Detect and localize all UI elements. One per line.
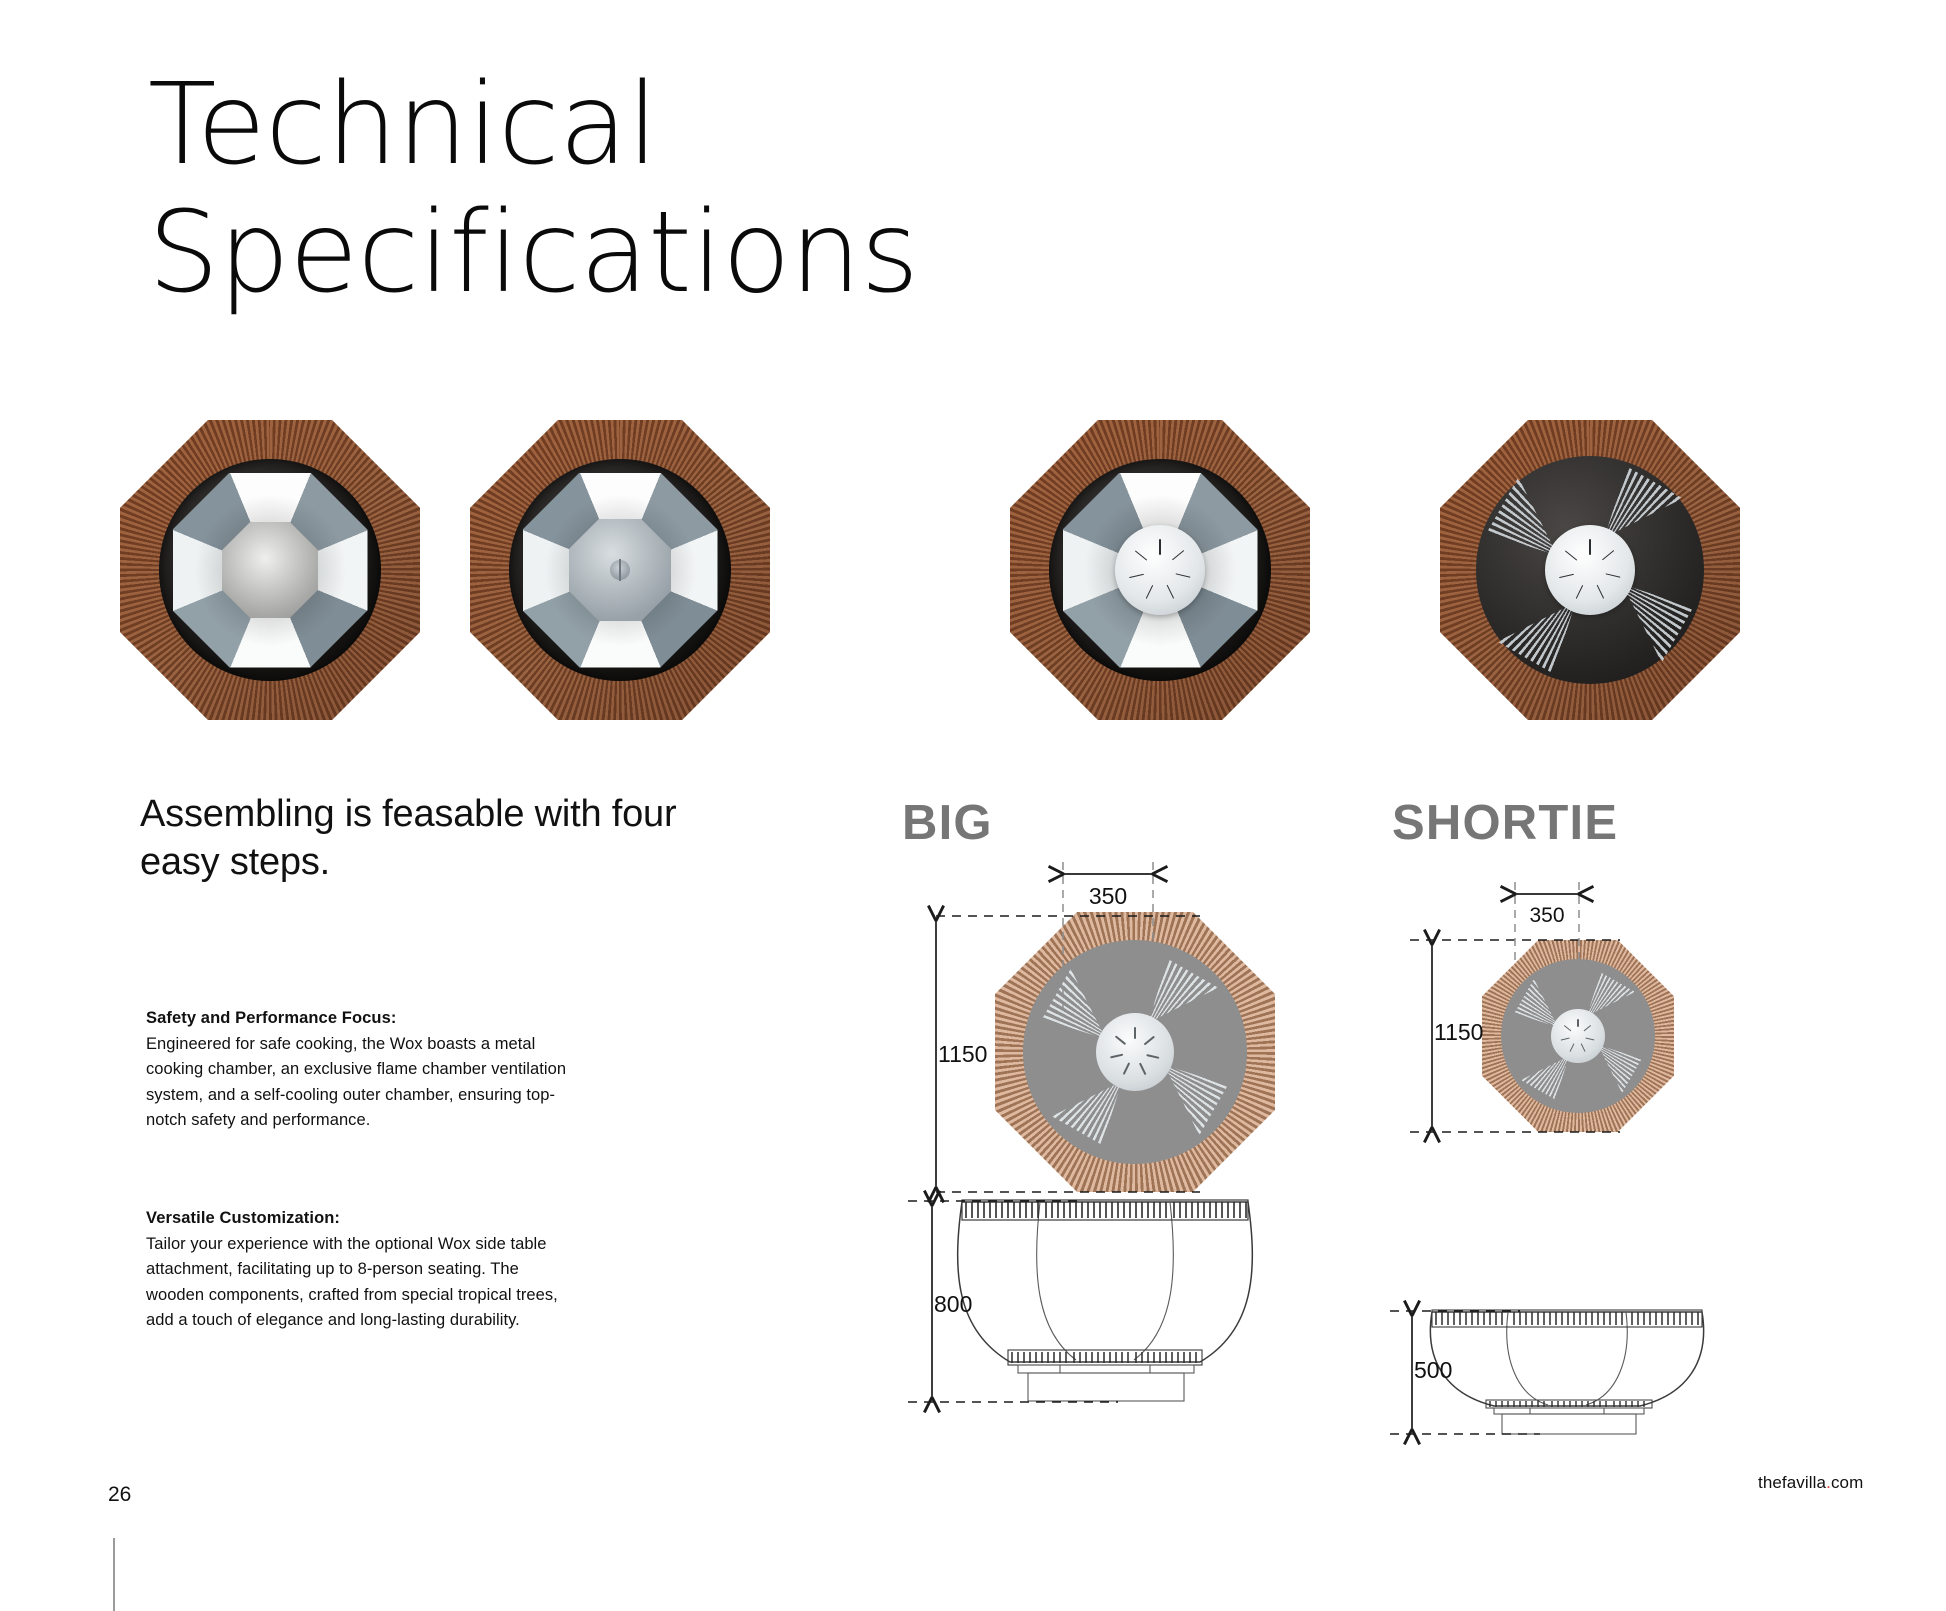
big-elevation-dimensions: 800 [898, 1180, 1338, 1430]
page-number: 26 [108, 1483, 131, 1507]
assembly-step-photo-1 [120, 420, 420, 720]
page-title: Technical Specifications [148, 62, 918, 317]
spec-paragraph-body: Engineered for safe cooking, the Wox boa… [146, 1032, 576, 1134]
spec-paragraph-safety: Safety and Performance Focus: Engineered… [146, 1006, 576, 1134]
model-label-shortie: SHORTIE [1392, 795, 1618, 851]
shortie-elevation-dimensions: 500 [1390, 1290, 1790, 1450]
lead-statement: Assembling is feasable with four easy st… [140, 790, 740, 887]
shortie-plan-height-label: 1150 [1434, 1019, 1483, 1045]
assembly-step-gallery [0, 420, 1946, 730]
burner-vent-slot [1565, 550, 1578, 561]
burner-vent-slot [1576, 585, 1584, 599]
assembly-step-photo-4 [1440, 420, 1740, 720]
burner-vent-slot [1172, 550, 1185, 561]
big-plan-dimensions: 1150 350 [900, 860, 1380, 1210]
burner-vent-slot [1605, 574, 1620, 579]
firepit-top-view-step-1 [120, 420, 420, 720]
burner-vent-slot [1129, 574, 1144, 579]
spec-paragraph-heading: Safety and Performance Focus: [146, 1006, 576, 1032]
burner-mount-ring [569, 519, 671, 621]
chamber-opening [222, 522, 318, 618]
assembly-step-photo-3 [1010, 420, 1310, 720]
website-url-name: thefavilla [1758, 1473, 1826, 1492]
shortie-plan-width-label: 350 [1529, 904, 1564, 927]
burner-mount-slot [619, 559, 620, 581]
burner-vent-slot [1589, 539, 1590, 554]
spec-paragraph-heading: Versatile Customization: [146, 1206, 576, 1232]
burner-vent-slot [1166, 585, 1174, 599]
burner-vent-slot [1175, 574, 1190, 579]
big-plan-height-label: 1150 [938, 1041, 987, 1067]
spec-paragraph-body: Tailor your experience with the optional… [146, 1232, 576, 1334]
spec-paragraph-customization: Versatile Customization: Tailor your exp… [146, 1206, 576, 1334]
assembly-step-photo-2 [470, 420, 770, 720]
firepit-top-view-step-2 [470, 420, 770, 720]
burner-vent-slot [1602, 550, 1615, 561]
burner-disc [1115, 525, 1205, 615]
burner-vent-slot [1596, 585, 1604, 599]
website-url-tld: com [1831, 1473, 1863, 1492]
footer-divider [113, 1538, 115, 1611]
burner-vent-slot [1159, 539, 1160, 554]
catalog-page: Technical Specifications [0, 0, 1946, 1611]
firepit-top-view-step-3 [1010, 420, 1310, 720]
burner-vent-slot [1559, 574, 1574, 579]
shortie-plan-dimensions: 1150 350 [1390, 860, 1810, 1180]
burner-disc [1545, 525, 1635, 615]
burner-vent-slot [1135, 550, 1148, 561]
page-title-line-1: Technical [148, 62, 918, 190]
shortie-elevation-height-label: 500 [1414, 1357, 1452, 1383]
burner-vent-slot [1146, 585, 1154, 599]
big-plan-width-label: 350 [1089, 883, 1127, 909]
model-label-big: BIG [902, 795, 993, 851]
firepit-top-view-step-4 [1440, 420, 1740, 720]
big-elevation-height-label: 800 [934, 1291, 972, 1317]
website-url[interactable]: thefavilla.com [1758, 1473, 1863, 1493]
page-title-line-2: Specifications [148, 190, 918, 318]
